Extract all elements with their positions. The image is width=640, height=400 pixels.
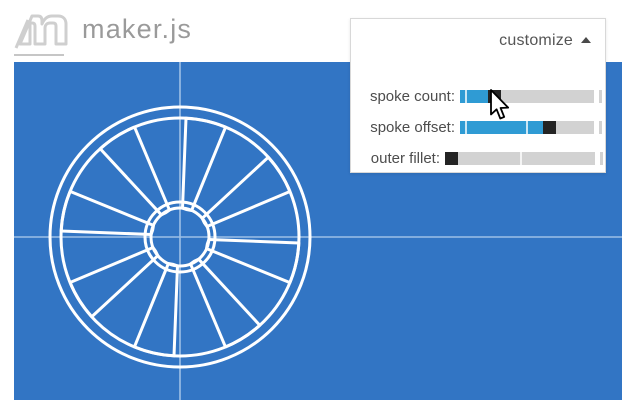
slider-thumb-icon[interactable]	[488, 90, 501, 103]
makerjs-app: maker.js	[0, 0, 640, 400]
slider-tick	[465, 90, 467, 103]
slider-thumb-icon[interactable]	[445, 152, 458, 165]
control-row-spoke-offset: spoke offset:	[351, 116, 605, 138]
makerjs-logo-icon	[14, 8, 70, 52]
control-row-spoke-count: spoke count:	[351, 85, 605, 107]
slider-endcap	[599, 121, 602, 134]
slider-label-spoke-count: spoke count:	[351, 88, 460, 105]
slider-label-outer-fillet: outer fillet:	[351, 150, 445, 167]
slider-spoke-offset[interactable]	[460, 121, 594, 134]
customize-panel-title: customize	[499, 32, 573, 50]
slider-endcap	[600, 152, 603, 165]
header-divider	[14, 54, 64, 56]
slider-tick-mid	[526, 121, 528, 134]
slider-endcap	[599, 90, 602, 103]
slider-outer-fillet[interactable]	[445, 152, 595, 165]
brand-title: maker.js	[82, 16, 192, 45]
slider-spoke-count[interactable]	[460, 90, 594, 103]
control-row-outer-fillet: outer fillet:	[351, 147, 605, 169]
slider-tick	[465, 121, 467, 134]
customize-panel-header[interactable]: customize	[351, 19, 605, 63]
caret-up-icon[interactable]	[581, 37, 591, 43]
customize-panel: customize spoke count: spoke offset:	[350, 18, 606, 173]
brand[interactable]: maker.js	[14, 8, 192, 52]
slider-fill	[460, 121, 543, 134]
slider-label-spoke-offset: spoke offset:	[351, 119, 460, 136]
slider-tick	[520, 152, 522, 165]
slider-thumb-icon[interactable]	[543, 121, 556, 134]
